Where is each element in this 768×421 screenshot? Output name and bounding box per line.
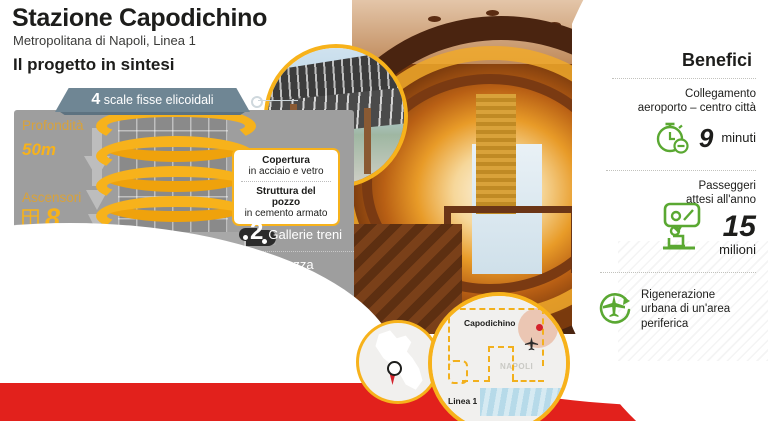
page-subtitle: Metropolitana di Napoli, Linea 1 xyxy=(13,33,196,48)
tunnel-leader-dot xyxy=(243,235,248,240)
benefit-1-value: 9 xyxy=(699,125,713,151)
callout-line1-sub: in acciaio e vetro xyxy=(241,166,331,177)
station-dot-icon xyxy=(536,324,543,331)
benefit-2-value: 15 xyxy=(719,212,756,242)
tunnel-label: Gallerie treni xyxy=(268,227,342,242)
stopwatch-icon xyxy=(655,120,691,156)
map-pin-icon xyxy=(387,361,402,376)
stat-depth: Profondità 50m xyxy=(22,118,84,160)
canopy-leader-line xyxy=(258,100,298,102)
map-city-label: NAPOLI xyxy=(500,362,533,371)
benefit-3-line3: periferica xyxy=(641,318,688,330)
map-sea xyxy=(480,388,566,416)
benefits-title: Benefici xyxy=(682,50,752,71)
tunnel-count: 2 xyxy=(250,218,263,246)
benefit-travel-time: Collegamento aeroporto – centro città 9 … xyxy=(596,88,756,156)
canopy-number: 4 xyxy=(91,91,100,108)
benefit-1-line1: Collegamento xyxy=(685,88,756,100)
benefit-3-line2: urbana di un'area xyxy=(641,303,730,315)
benefit-regeneration: Rigenerazione urbana di un'area periferi… xyxy=(596,284,756,331)
depth-label: Profondità xyxy=(22,118,84,133)
airplane-cycle-icon xyxy=(596,288,632,324)
canopy-label: scale fisse elicoidali xyxy=(104,93,214,107)
canopy-leader-dot xyxy=(251,96,263,108)
benefit-3-line1: Rigenerazione xyxy=(641,289,715,301)
benefit-1-line2: aeroporto – centro città xyxy=(638,102,756,114)
callout-line2-title: Struttura del pozzo xyxy=(241,186,331,208)
benefit-2-line1: Passeggeri xyxy=(698,180,756,192)
metro-line-map: NAPOLI Capodichino Linea 1 xyxy=(428,292,570,421)
benefit-1-unit: minuti xyxy=(721,130,756,145)
depth-unit: m xyxy=(41,140,56,159)
benefit-passengers: Passeggeri attesi all'anno 15 milioni xyxy=(588,180,756,257)
depth-value: 50 xyxy=(22,140,41,159)
materials-callout: Copertura in acciaio e vetro Struttura d… xyxy=(232,148,340,226)
map-station-label: Capodichino xyxy=(464,318,515,328)
airplane-icon xyxy=(524,336,539,351)
canopy-banner: 4 scale fisse elicoidali xyxy=(55,88,250,112)
benefit-2-unit: milioni xyxy=(719,242,756,257)
callout-line1-title: Copertura xyxy=(241,155,331,166)
seated-passenger-icon xyxy=(655,198,711,254)
infographic-root: Stazione Capodichino Metropolitana di Na… xyxy=(0,0,768,421)
page-title: Stazione Capodichino xyxy=(12,4,267,33)
section-title: Il progetto in sintesi xyxy=(13,55,175,75)
map-line-label: Linea 1 xyxy=(448,396,477,406)
